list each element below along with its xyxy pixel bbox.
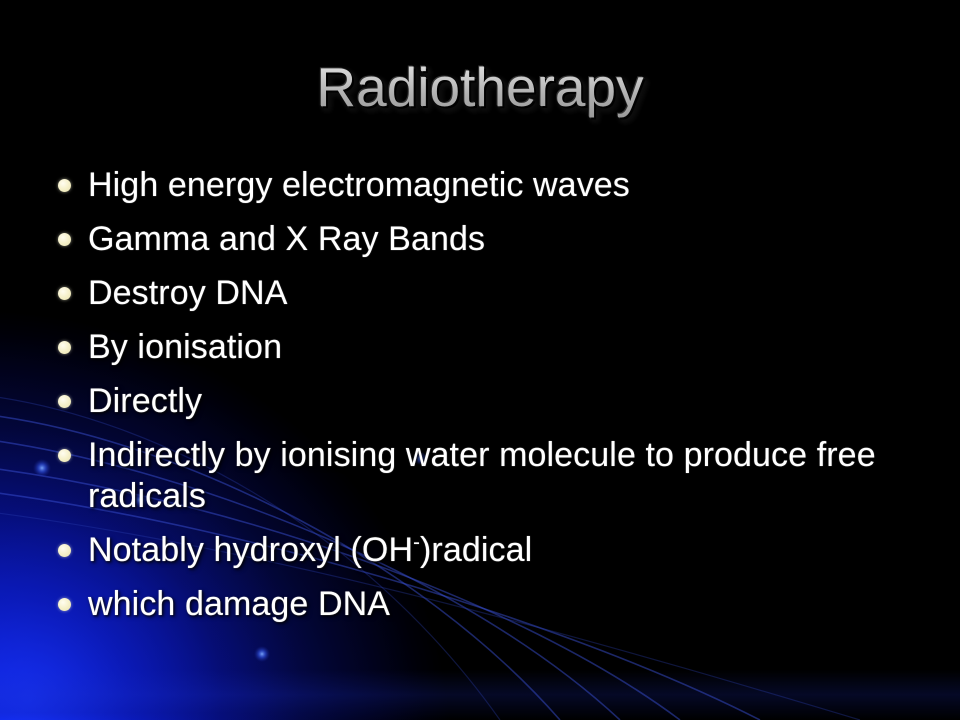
bullet-dot-icon (58, 395, 71, 408)
list-item[interactable]: By ionisation (58, 327, 918, 368)
bullet-dot-icon (58, 544, 71, 557)
list-item-label: By ionisation (88, 327, 918, 368)
list-item[interactable]: Directly (58, 381, 918, 422)
list-item-label: Notably hydroxyl (OH-)radical (88, 530, 918, 571)
list-item-label: which damage DNA (88, 584, 918, 625)
list-item[interactable]: which damage DNA (58, 584, 918, 625)
list-item-label: High energy electromagnetic waves (88, 165, 918, 206)
list-item-label: Directly (88, 381, 918, 422)
bullet-dot-icon (58, 233, 71, 246)
charge-superscript: - (413, 532, 420, 554)
bullet-dot-icon (58, 449, 71, 462)
list-item[interactable]: Indirectly by ionising water molecule to… (58, 435, 918, 517)
bullet-dot-icon (58, 341, 71, 354)
bullet-dot-icon (58, 179, 71, 192)
list-item-label-prefix: Notably hydroxyl (OH (88, 531, 413, 569)
bullet-dot-icon (58, 287, 71, 300)
list-item[interactable]: Gamma and X Ray Bands (58, 219, 918, 260)
list-item-label: Destroy DNA (88, 273, 918, 314)
list-item-label: Indirectly by ionising water molecule to… (88, 435, 918, 517)
list-item-label-suffix: )radical (420, 531, 532, 569)
list-item[interactable]: High energy electromagnetic waves (58, 165, 918, 206)
presentation-slide: Radiotherapy High energy electromagnetic… (0, 0, 960, 720)
list-item[interactable]: Destroy DNA (58, 273, 918, 314)
slide-title: Radiotherapy (0, 56, 960, 118)
list-item-label: Gamma and X Ray Bands (88, 219, 918, 260)
list-item[interactable]: Notably hydroxyl (OH-)radical (58, 530, 918, 571)
bullet-dot-icon (58, 598, 71, 611)
slide-bullet-list: High energy electromagnetic waves Gamma … (58, 165, 918, 638)
